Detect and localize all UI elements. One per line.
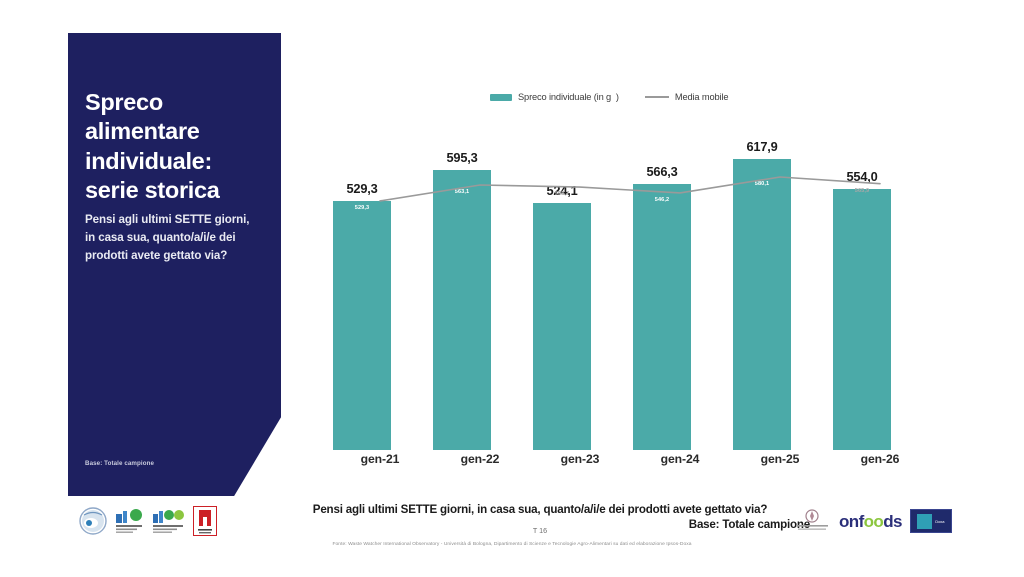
footer-question: Pensi agli ultimi SETTE giorni, in casa …	[270, 503, 810, 516]
moving-average-point-label: 558,7	[555, 191, 570, 197]
moving-average-point-label: 565,9	[855, 188, 870, 194]
x-axis-tick: gen-22	[430, 452, 530, 466]
university-logo-icon	[793, 508, 831, 534]
bar-value-label: 529,3	[346, 181, 377, 196]
moving-average-point-label: 546,2	[655, 197, 670, 203]
doxa-logo-label: Doxa	[935, 519, 944, 524]
bar-group: 617,9 580,1	[730, 130, 794, 450]
partner-logo-icon	[115, 508, 145, 534]
partner-logo-icon	[152, 508, 186, 534]
footer-source-note: Fonte: Waste Watcher International Obser…	[0, 542, 1024, 547]
partner-logo-icon	[193, 506, 217, 536]
doxa-logo: Doxa	[910, 509, 952, 533]
chart-plot-area: 529,3 529,3 595,3 563,1 524,1 558,7 566,…	[330, 130, 930, 450]
onfoods-logo-oo: oo	[864, 512, 884, 531]
x-axis-tick: gen-26	[830, 452, 930, 466]
bar-value-label: 554,0	[846, 169, 877, 184]
bar-group: 566,3 546,2	[630, 130, 694, 450]
moving-average-point-label: 529,3	[355, 205, 370, 211]
moving-average-point-label: 563,1	[455, 189, 470, 195]
page-title: Spreco alimentare individuale: serie sto…	[85, 88, 265, 206]
onfoods-logo-pre: onf	[839, 512, 864, 531]
bar-group: 554,0 565,9	[830, 130, 894, 450]
table-row[interactable]	[433, 170, 491, 450]
slide-marker: T 16	[270, 526, 810, 535]
onfoods-logo: onfoods	[839, 513, 902, 530]
partner-logos-right: onfoods Doxa	[793, 508, 952, 534]
chart-legend: Spreco individuale (in g ) Media mobile	[490, 92, 728, 102]
bar-value-label: 595,3	[446, 150, 477, 165]
waste-watcher-logo-icon	[78, 506, 108, 536]
bar-value-label: 566,3	[646, 164, 677, 179]
table-row[interactable]	[733, 159, 791, 450]
table-row[interactable]	[833, 189, 891, 450]
legend-item-label: Spreco individuale (in g )	[518, 92, 619, 102]
table-row[interactable]	[533, 203, 591, 450]
legend-line-swatch-icon	[645, 96, 669, 98]
bar-group: 524,1 558,7	[530, 130, 594, 450]
doxa-logo-mark-icon	[917, 514, 932, 529]
table-row[interactable]	[333, 201, 391, 450]
bar-group: 595,3 563,1	[430, 130, 494, 450]
moving-average-point-label: 580,1	[755, 181, 770, 187]
x-axis: gen-21 gen-22 gen-23 gen-24 gen-25 gen-2…	[330, 452, 930, 466]
slide-canvas: Spreco alimentare individuale: serie sto…	[0, 0, 1024, 577]
partner-logos-left	[78, 506, 217, 536]
x-axis-tick: gen-24	[630, 452, 730, 466]
legend-bar-swatch-icon	[490, 94, 512, 101]
x-axis-tick: gen-23	[530, 452, 630, 466]
x-axis-tick: gen-21	[330, 452, 430, 466]
legend-item-label: Media mobile	[675, 92, 729, 102]
bar-value-label: 617,9	[746, 139, 777, 154]
bar-group: 529,3 529,3	[330, 130, 394, 450]
legend-item-bar: Spreco individuale (in g )	[490, 92, 619, 102]
panel-subtitle: Pensi agli ultimi SETTE giorni, in casa …	[85, 211, 253, 265]
x-axis-tick: gen-25	[730, 452, 830, 466]
legend-item-line: Media mobile	[645, 92, 729, 102]
panel-base-note: Base: Totale campione	[85, 460, 154, 467]
bar-chart: 529,3 529,3 595,3 563,1 524,1 558,7 566,…	[330, 130, 930, 450]
table-row[interactable]	[633, 184, 691, 450]
title-panel: Spreco alimentare individuale: serie sto…	[68, 33, 281, 496]
onfoods-logo-post: ds	[883, 512, 902, 531]
